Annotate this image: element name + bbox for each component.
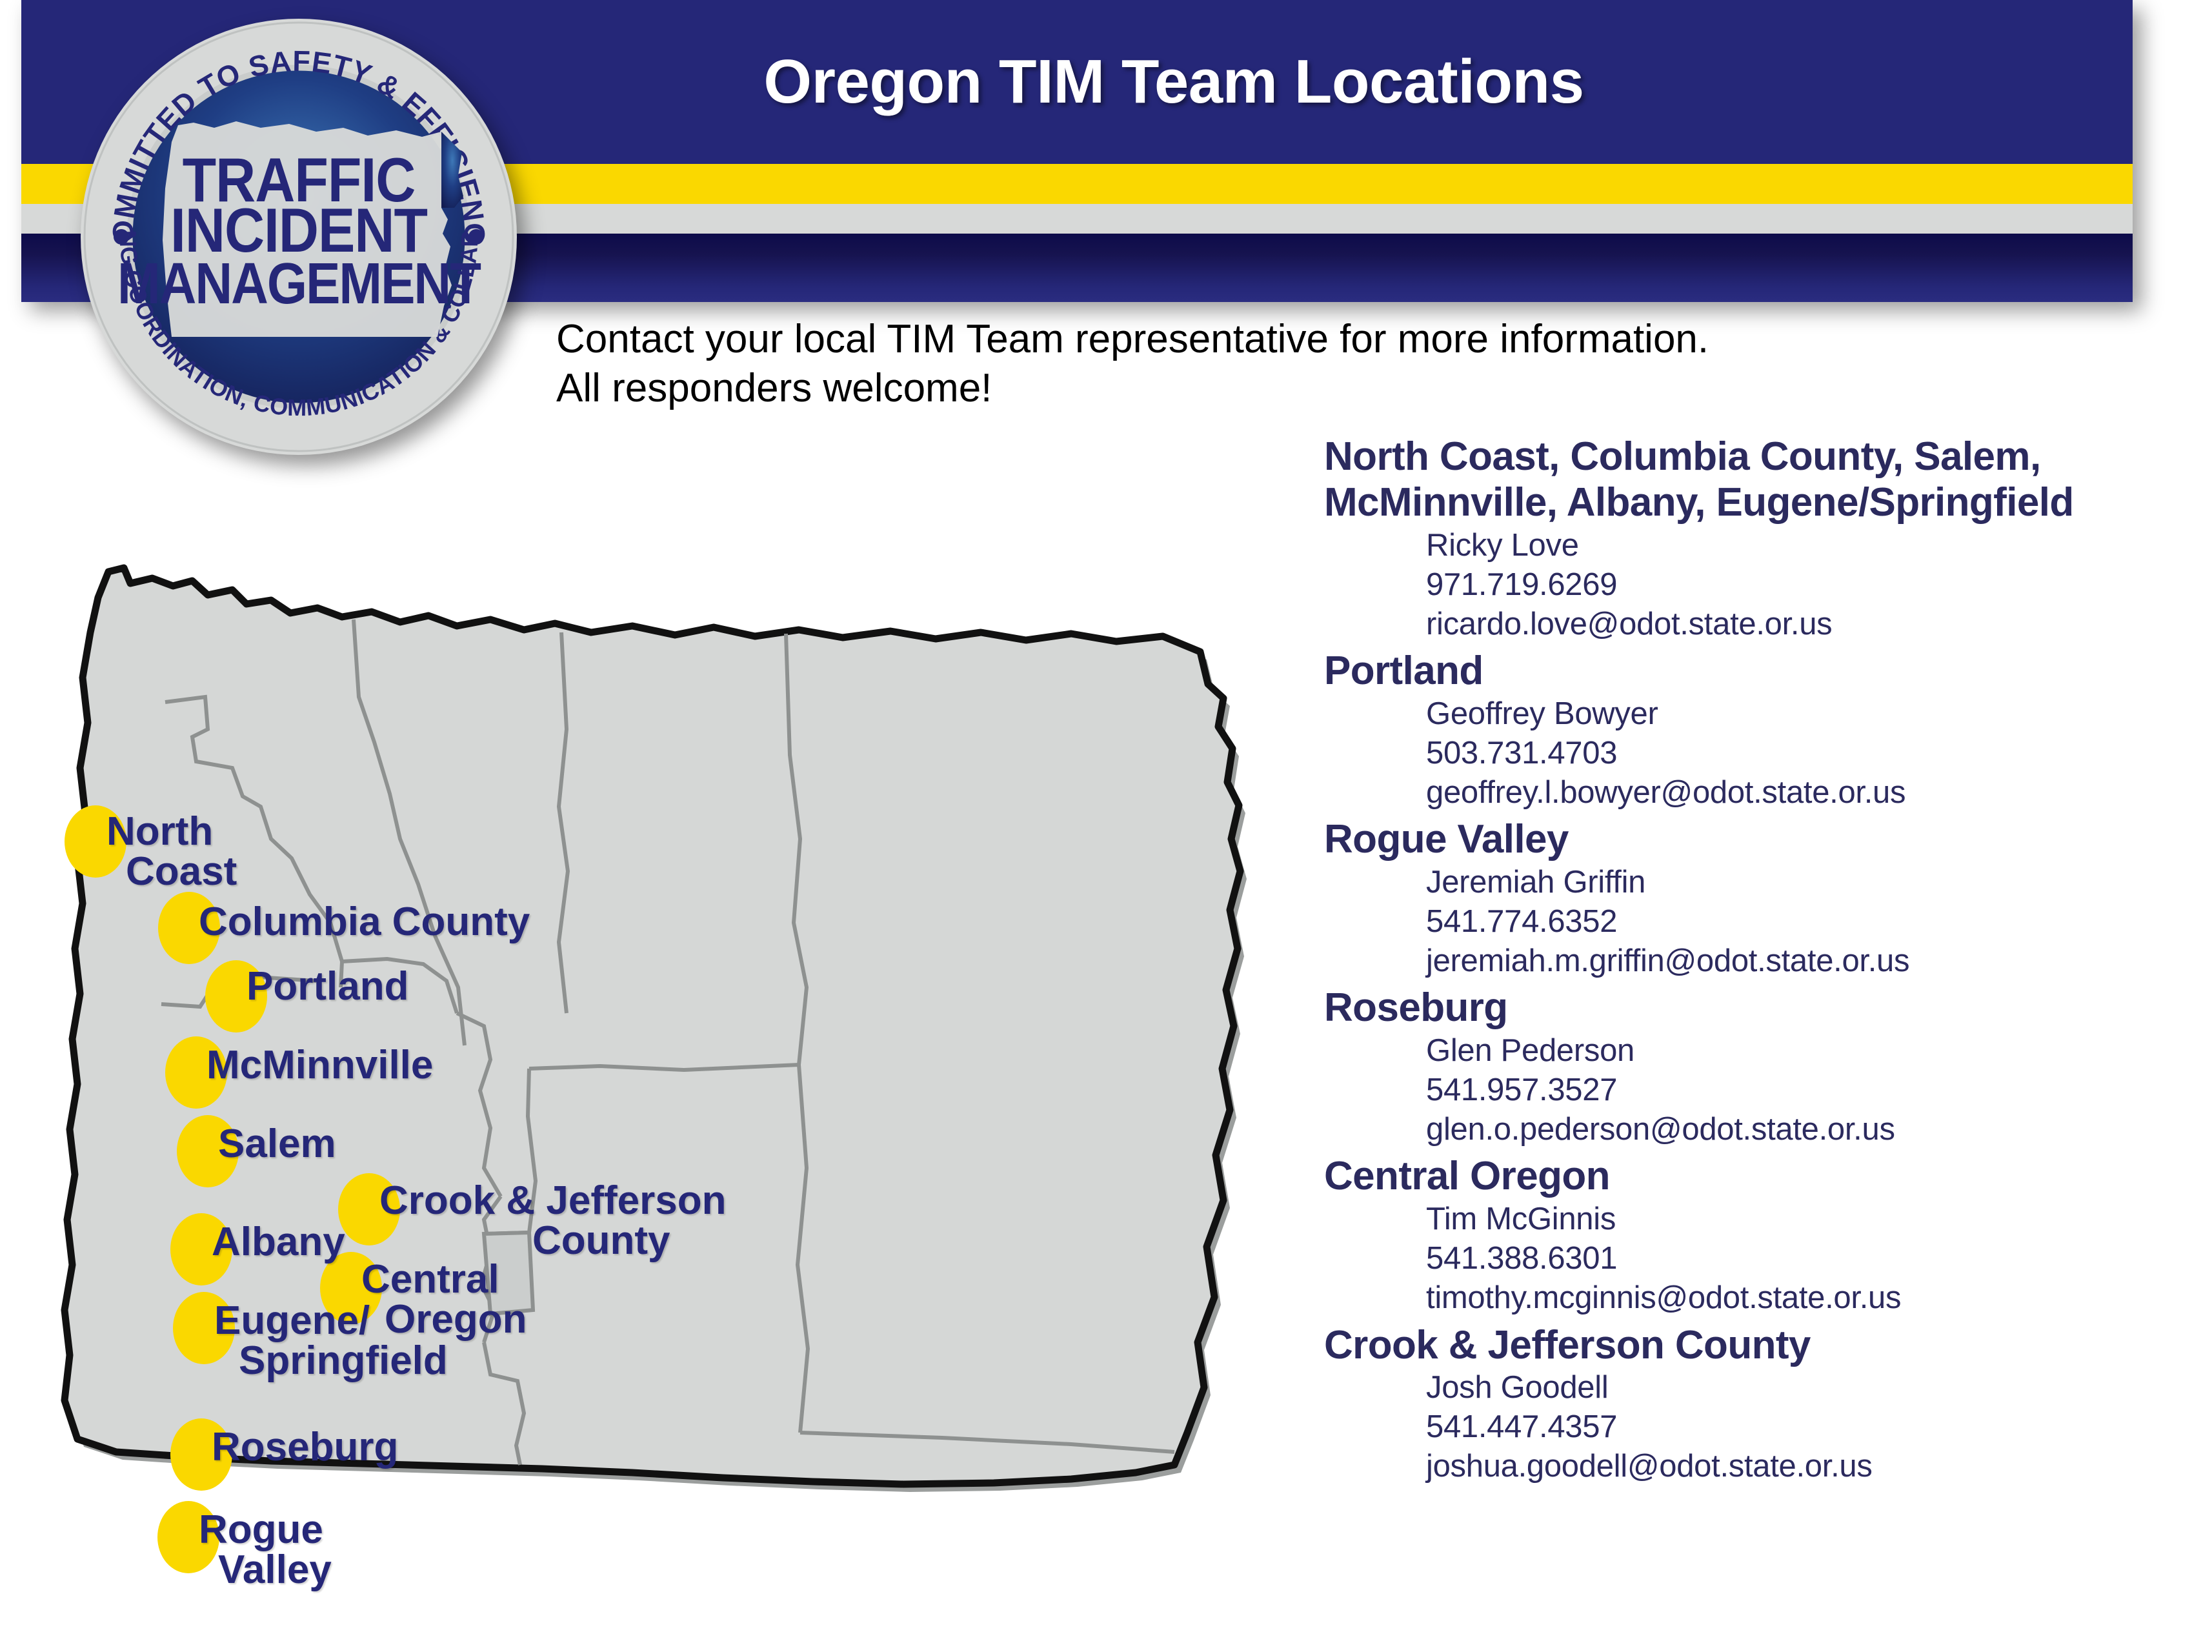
contact-email[interactable]: jeremiah.m.griffin@odot.state.or.us	[1426, 942, 2163, 981]
contact-phone[interactable]: 503.731.4703	[1426, 734, 2163, 773]
contact-name: Josh Goodell	[1426, 1368, 2163, 1407]
map-label-mcminnville[interactable]: McMinnville	[206, 1045, 433, 1085]
contact-phone[interactable]: 971.719.6269	[1426, 565, 2163, 605]
map-label-line: Oregon	[385, 1300, 527, 1340]
contact-email[interactable]: joshua.goodell@odot.state.or.us	[1426, 1447, 2163, 1486]
subtitle-line-1: Contact your local TIM Team representati…	[556, 315, 1911, 364]
contact-details: Jeremiah Griffin 541.774.6352 jeremiah.m…	[1426, 863, 2163, 982]
map-label-line: Coast	[126, 852, 237, 892]
contact-details: Tim McGinnis 541.388.6301 timothy.mcginn…	[1426, 1200, 2163, 1318]
subtitle-line-2: All responders welcome!	[556, 364, 1911, 413]
map-label-line: Springfield	[239, 1341, 448, 1381]
contact-block: Roseburg Glen Pederson 541.957.3527 glen…	[1324, 985, 2163, 1149]
map-label-rogue-valley[interactable]: Rogue Valley	[199, 1510, 332, 1590]
contact-phone[interactable]: 541.957.3527	[1426, 1071, 2163, 1110]
map-label-line: County	[476, 1221, 726, 1261]
contact-details: Josh Goodell 541.447.4357 joshua.goodell…	[1426, 1368, 2163, 1487]
contact-block: Rogue Valley Jeremiah Griffin 541.774.63…	[1324, 816, 2163, 981]
contact-details: Ricky Love 971.719.6269 ricardo.love@odo…	[1426, 526, 2163, 645]
map-label-line: Columbia County	[199, 902, 530, 942]
map-label-roseburg[interactable]: Roseburg	[212, 1427, 398, 1467]
contact-email[interactable]: geoffrey.l.bowyer@odot.state.or.us	[1426, 773, 2163, 812]
contact-region-heading: Roseburg	[1324, 985, 2163, 1031]
contact-phone[interactable]: 541.774.6352	[1426, 902, 2163, 942]
contact-block: Portland Geoffrey Bowyer 503.731.4703 ge…	[1324, 648, 2163, 812]
map-label-line: Roseburg	[212, 1427, 398, 1467]
contact-name: Geoffrey Bowyer	[1426, 694, 2163, 734]
contact-name: Jeremiah Griffin	[1426, 863, 2163, 902]
contact-email[interactable]: timothy.mcginnis@odot.state.or.us	[1426, 1278, 2163, 1318]
map-label-albany[interactable]: Albany	[212, 1222, 345, 1262]
contact-list: North Coast, Columbia County, Salem, McM…	[1324, 434, 2163, 1491]
map-label-line: Rogue	[199, 1510, 332, 1550]
contact-phone[interactable]: 541.447.4357	[1426, 1407, 2163, 1447]
map-label-central-oregon[interactable]: Central Oregon	[361, 1260, 527, 1340]
logo-line-3: MANAGEMENT	[117, 251, 481, 316]
map-label-line: Central	[361, 1260, 527, 1300]
map-label-line: Portland	[246, 967, 408, 1007]
contact-phone[interactable]: 541.388.6301	[1426, 1239, 2163, 1278]
oregon-map-region: North Coast Columbia County Portland McM…	[39, 536, 1323, 1516]
contact-block: Crook & Jefferson County Josh Goodell 54…	[1324, 1322, 2163, 1487]
contact-region-heading: Rogue Valley	[1324, 816, 2163, 862]
map-label-line: Albany	[212, 1222, 345, 1262]
contact-name: Ricky Love	[1426, 526, 2163, 565]
tim-logo-seal: COMMITTED TO SAFETY & EFFICIENCY ENHANCI…	[76, 14, 521, 459]
map-label-line: Valley	[218, 1550, 332, 1590]
contact-region-heading: Crook & Jefferson County	[1324, 1322, 2163, 1368]
contact-name: Tim McGinnis	[1426, 1200, 2163, 1239]
map-label-line: Salem	[218, 1124, 336, 1164]
map-label-crook-jefferson-county[interactable]: Crook & Jefferson County	[379, 1181, 726, 1261]
subtitle-text: Contact your local TIM Team representati…	[556, 315, 1911, 412]
map-label-line: North	[106, 812, 237, 852]
contact-region-heading: Portland	[1324, 648, 2163, 694]
tim-logo-icon: COMMITTED TO SAFETY & EFFICIENCY ENHANCI…	[76, 14, 521, 459]
map-label-line: Crook & Jefferson	[379, 1181, 726, 1221]
contact-details: Glen Pederson 541.957.3527 glen.o.peders…	[1426, 1031, 2163, 1150]
map-label-north-coast[interactable]: North Coast	[106, 812, 237, 892]
contact-details: Geoffrey Bowyer 503.731.4703 geoffrey.l.…	[1426, 694, 2163, 813]
map-label-columbia-county[interactable]: Columbia County	[199, 902, 530, 942]
map-label-portland[interactable]: Portland	[246, 967, 408, 1007]
contact-region-heading: Central Oregon	[1324, 1153, 2163, 1199]
map-label-salem[interactable]: Salem	[218, 1124, 336, 1164]
contact-block: North Coast, Columbia County, Salem, McM…	[1324, 434, 2163, 644]
contact-name: Glen Pederson	[1426, 1031, 2163, 1071]
contact-email[interactable]: glen.o.pederson@odot.state.or.us	[1426, 1110, 2163, 1149]
map-label-line: McMinnville	[206, 1045, 433, 1085]
contact-region-heading: North Coast, Columbia County, Salem, McM…	[1324, 434, 2163, 526]
contact-block: Central Oregon Tim McGinnis 541.388.6301…	[1324, 1153, 2163, 1318]
contact-email[interactable]: ricardo.love@odot.state.or.us	[1426, 605, 2163, 644]
